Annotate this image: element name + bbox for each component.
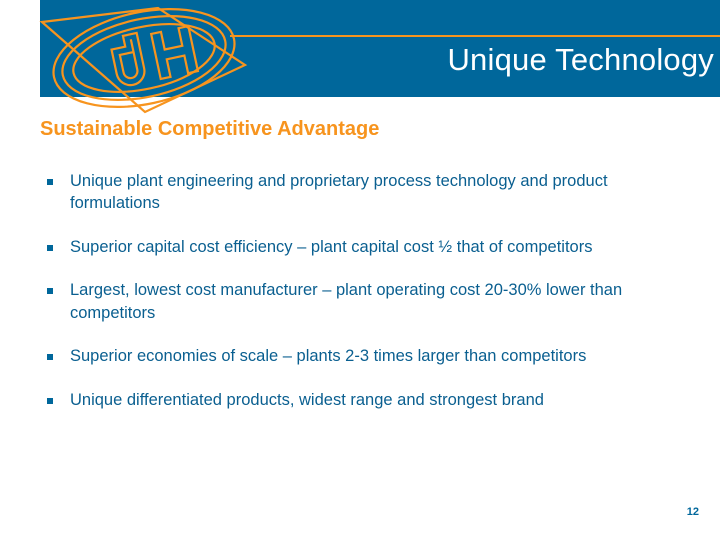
list-item-text: Unique plant engineering and proprietary…: [70, 170, 686, 215]
list-item: Largest, lowest cost manufacturer – plan…: [40, 279, 686, 324]
list-item: Unique plant engineering and proprietary…: [40, 170, 686, 215]
slide-canvas: Unique Technology Sustainable Competitiv…: [0, 0, 720, 540]
jh-logo: [36, 2, 252, 114]
square-bullet-icon: [47, 354, 53, 360]
square-bullet-icon: [47, 398, 53, 404]
jh-logo-icon: [36, 2, 252, 114]
slide-subtitle: Sustainable Competitive Advantage: [40, 118, 379, 140]
slide-title: Unique Technology: [447, 44, 714, 75]
list-item-text: Largest, lowest cost manufacturer – plan…: [70, 279, 686, 324]
bullet-list: Unique plant engineering and proprietary…: [40, 170, 686, 432]
page-number: 12: [687, 507, 699, 518]
list-item: Superior economies of scale – plants 2-3…: [40, 345, 686, 367]
square-bullet-icon: [47, 288, 53, 294]
list-item-text: Superior capital cost efficiency – plant…: [70, 236, 686, 258]
list-item: Superior capital cost efficiency – plant…: [40, 236, 686, 258]
square-bullet-icon: [47, 179, 53, 185]
list-item: Unique differentiated products, widest r…: [40, 389, 686, 411]
list-item-text: Unique differentiated products, widest r…: [70, 389, 686, 411]
header-accent-rule: [230, 35, 720, 37]
square-bullet-icon: [47, 245, 53, 251]
list-item-text: Superior economies of scale – plants 2-3…: [70, 345, 686, 367]
